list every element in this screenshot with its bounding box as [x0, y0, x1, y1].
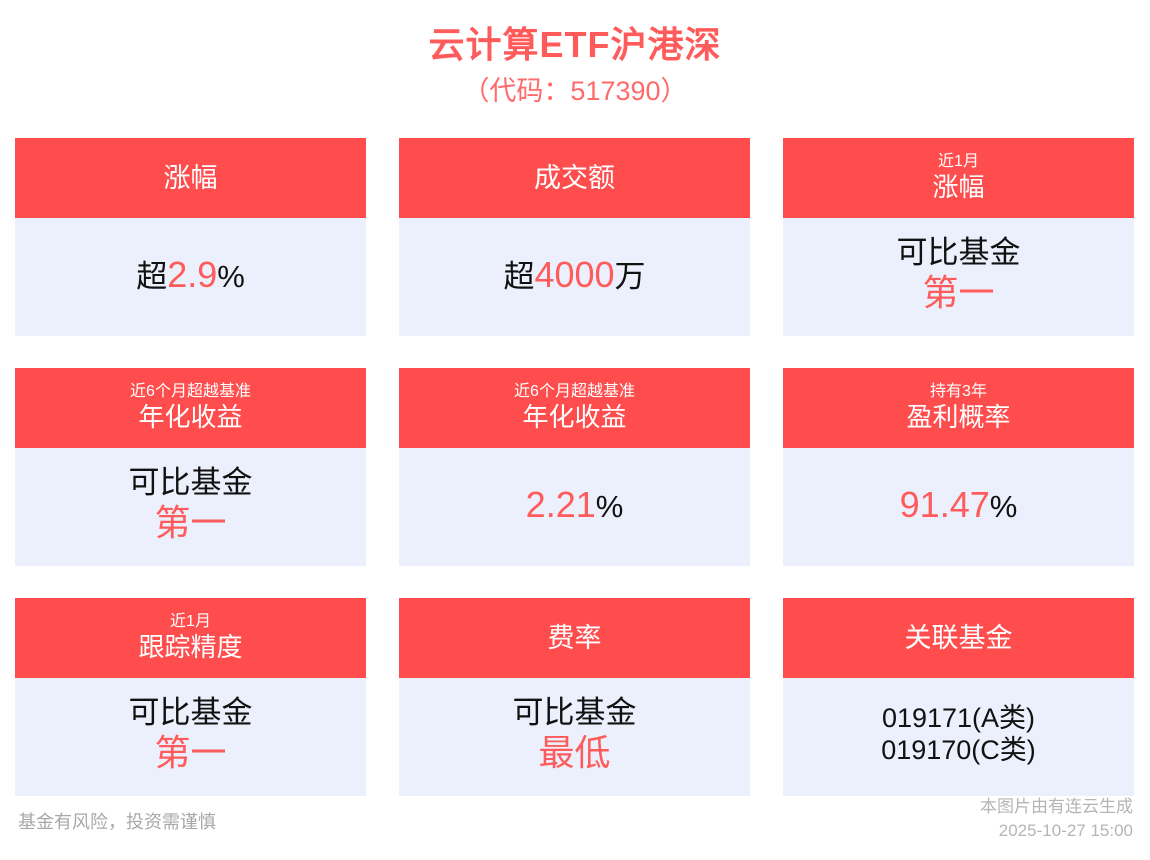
- metric-card-title: 涨幅: [932, 172, 984, 203]
- metric-card-body: 019171(A类)019170(C类): [783, 678, 1134, 796]
- generated-timestamp: 2025-10-27 15:00: [980, 819, 1133, 844]
- metric-value-segment: 019171(A类): [882, 703, 1035, 733]
- metric-value-line: 可比基金: [129, 695, 253, 732]
- metric-value-line: 第一: [922, 272, 994, 314]
- metric-value-line: 可比基金: [897, 235, 1021, 272]
- metric-card-header: 近1月涨幅: [783, 138, 1134, 218]
- metric-card-header: 近6个月超越基准年化收益: [399, 368, 750, 448]
- metric-card-subtitle: 近1月: [938, 153, 979, 171]
- source-text: 本图片由有连云生成: [980, 795, 1133, 820]
- metric-card-header: 费率: [399, 598, 750, 678]
- metric-card-title: 年化收益: [522, 402, 626, 433]
- metric-card-three-year-profit-probability: 持有3年盈利概率91.47%: [783, 368, 1134, 566]
- metric-value-line: 第一: [154, 502, 226, 544]
- metric-value-segment: 可比基金: [513, 695, 637, 730]
- metric-value-segment: %: [596, 489, 624, 524]
- risk-disclaimer: 基金有风险，投资需谨慎: [18, 811, 216, 834]
- metric-value-segment: 可比基金: [129, 465, 253, 500]
- metric-value-line: 最低: [538, 732, 610, 774]
- metric-value-segment: 最低: [538, 732, 610, 773]
- metric-card-subtitle: 持有3年: [930, 383, 987, 401]
- metric-value-segment: 超: [136, 259, 167, 294]
- metric-card-header: 近1月跟踪精度: [15, 598, 366, 678]
- metric-value-segment: 2.21: [526, 484, 596, 525]
- metric-value-line: 超4000万: [503, 254, 645, 296]
- metric-card-title: 涨幅: [164, 162, 218, 194]
- metric-card-body: 超4000万: [399, 218, 750, 336]
- metric-card-linked-funds: 关联基金019171(A类)019170(C类): [783, 598, 1134, 796]
- metric-card-header: 近6个月超越基准年化收益: [15, 368, 366, 448]
- metric-card-subtitle: 近1月: [170, 613, 211, 631]
- metric-value-segment: %: [217, 259, 245, 294]
- metric-value-segment: 第一: [154, 502, 226, 543]
- metric-value-segment: 超: [503, 259, 534, 294]
- metric-card-header: 成交额: [399, 138, 750, 218]
- page-header: 云计算ETF沪港深 （代码：517390）: [0, 0, 1150, 109]
- metric-value-segment: 019170(C类): [881, 735, 1036, 765]
- metric-card-title: 费率: [548, 622, 602, 654]
- metric-card-header: 涨幅: [15, 138, 366, 218]
- metric-card-subtitle: 近6个月超越基准: [130, 383, 251, 401]
- metric-value-segment: 可比基金: [897, 235, 1021, 270]
- metric-card-body: 可比基金第一: [783, 218, 1134, 336]
- metric-card-body: 2.21%: [399, 448, 750, 566]
- metric-card-turnover: 成交额超4000万: [399, 138, 750, 336]
- metric-card-subtitle: 近6个月超越基准: [514, 383, 635, 401]
- metric-card-body: 超2.9%: [15, 218, 366, 336]
- metric-card-body: 91.47%: [783, 448, 1134, 566]
- metric-value-line: 第一: [154, 732, 226, 774]
- metric-card-change-rate: 涨幅超2.9%: [15, 138, 366, 336]
- metric-value-line: 91.47%: [900, 484, 1018, 526]
- fund-code: （代码：517390）: [0, 75, 1150, 109]
- metric-card-body: 可比基金第一: [15, 678, 366, 796]
- metric-card-header: 关联基金: [783, 598, 1134, 678]
- metric-card-body: 可比基金最低: [399, 678, 750, 796]
- metric-card-six-month-excess-return-value: 近6个月超越基准年化收益2.21%: [399, 368, 750, 566]
- metric-card-one-month-tracking-accuracy: 近1月跟踪精度可比基金第一: [15, 598, 366, 796]
- metric-card-one-month-change-rank: 近1月涨幅可比基金第一: [783, 138, 1134, 336]
- metric-card-title: 关联基金: [905, 622, 1013, 654]
- metric-card-title: 跟踪精度: [138, 632, 242, 663]
- metric-card-grid: 涨幅超2.9%成交额超4000万近1月涨幅可比基金第一近6个月超越基准年化收益可…: [15, 138, 1135, 796]
- metric-value-segment: 可比基金: [129, 695, 253, 730]
- metric-value-segment: 第一: [154, 732, 226, 773]
- metric-value-segment: 第一: [922, 272, 994, 313]
- metric-card-header: 持有3年盈利概率: [783, 368, 1134, 448]
- metric-value-line: 019170(C类): [881, 735, 1036, 767]
- metric-value-line: 可比基金: [129, 465, 253, 502]
- metric-card-body: 可比基金第一: [15, 448, 366, 566]
- metric-card-fee-rate: 费率可比基金最低: [399, 598, 750, 796]
- metric-value-line: 019171(A类): [882, 703, 1035, 735]
- metric-value-line: 2.21%: [526, 484, 624, 526]
- metric-value-segment: %: [990, 489, 1018, 524]
- image-source-note: 本图片由有连云生成 2025-10-27 15:00: [980, 795, 1133, 844]
- metric-value-segment: 91.47: [900, 484, 990, 525]
- metric-card-title: 盈利概率: [906, 402, 1010, 433]
- metric-value-segment: 4000: [534, 254, 614, 295]
- metric-value-line: 超2.9%: [136, 254, 245, 296]
- metric-card-six-month-excess-return-rank: 近6个月超越基准年化收益可比基金第一: [15, 368, 366, 566]
- metric-value-line: 可比基金: [513, 695, 637, 732]
- metric-card-title: 年化收益: [138, 402, 242, 433]
- metric-value-segment: 2.9: [167, 254, 217, 295]
- metric-value-segment: 万: [615, 259, 646, 294]
- etf-info-page: 云计算ETF沪港深 （代码：517390） 涨幅超2.9%成交额超4000万近1…: [0, 0, 1150, 860]
- metric-card-title: 成交额: [534, 162, 615, 194]
- page-title: 云计算ETF沪港深: [0, 22, 1150, 67]
